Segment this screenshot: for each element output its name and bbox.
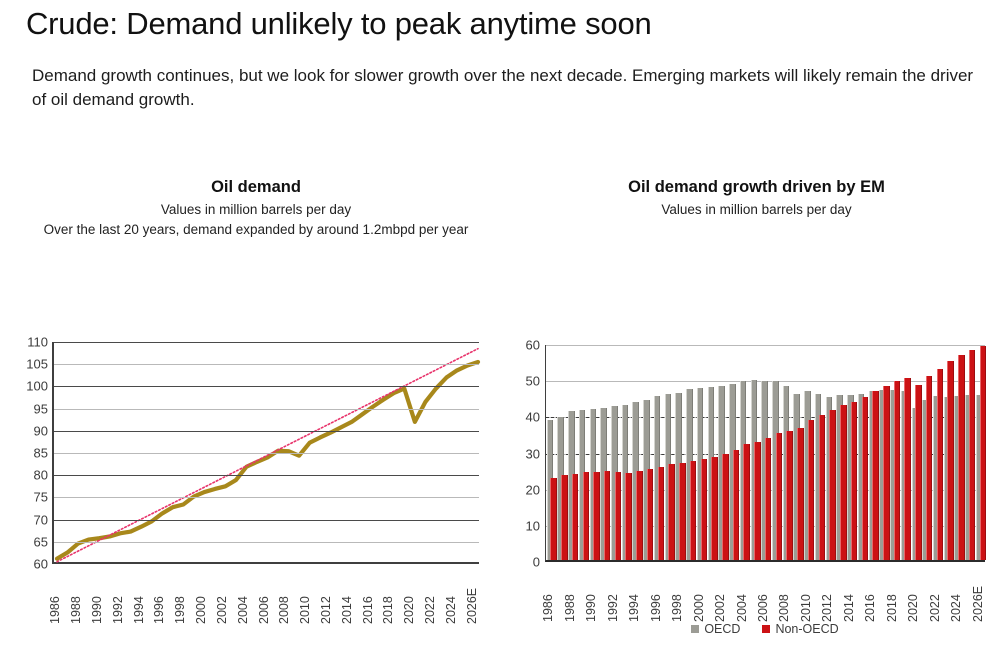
right-chart-y-axis: 0102030405060 xyxy=(508,345,540,562)
gridline xyxy=(54,364,479,365)
x-axis-tick: 2004 xyxy=(735,594,749,622)
bar-group[interactable] xyxy=(825,345,836,560)
bar-group[interactable] xyxy=(975,345,986,560)
bar-group[interactable] xyxy=(675,345,686,560)
x-axis-tick: 2006 xyxy=(257,596,271,624)
bar-group[interactable] xyxy=(610,345,621,560)
y-axis-tick: 80 xyxy=(34,468,48,483)
x-axis-tick: 2008 xyxy=(777,594,791,622)
x-axis-tick: 2002 xyxy=(713,594,727,622)
x-axis-tick: 1992 xyxy=(111,596,125,624)
x-axis-tick: 2014 xyxy=(340,596,354,624)
bar-group[interactable] xyxy=(761,345,772,560)
y-axis-tick: 85 xyxy=(34,446,48,461)
bar-group[interactable] xyxy=(664,345,675,560)
bar-group[interactable] xyxy=(578,345,589,560)
y-axis-tick: 10 xyxy=(526,518,540,533)
x-axis-tick: 1996 xyxy=(152,596,166,624)
oil-demand-path xyxy=(57,362,478,559)
y-axis-tick: 70 xyxy=(34,512,48,527)
y-axis-tick: 90 xyxy=(34,423,48,438)
left-chart-plot-area xyxy=(52,342,479,564)
bar-group[interactable] xyxy=(728,345,739,560)
x-axis-tick: 1988 xyxy=(563,594,577,622)
bar-group[interactable] xyxy=(965,345,976,560)
x-axis-tick: 1992 xyxy=(606,594,620,622)
bar-group[interactable] xyxy=(922,345,933,560)
bar-group[interactable] xyxy=(932,345,943,560)
x-axis-tick: 2014 xyxy=(842,594,856,622)
bar-group[interactable] xyxy=(868,345,879,560)
legend-swatch xyxy=(762,625,770,633)
bar-group[interactable] xyxy=(621,345,632,560)
x-axis-tick: 1998 xyxy=(173,596,187,624)
x-axis-tick: 1994 xyxy=(627,594,641,622)
gridline xyxy=(54,431,479,432)
bar-group[interactable] xyxy=(557,345,568,560)
gridline xyxy=(54,342,479,343)
y-axis-tick: 75 xyxy=(34,490,48,505)
x-axis-tick: 2024 xyxy=(444,596,458,624)
bar-group[interactable] xyxy=(836,345,847,560)
y-axis-tick: 0 xyxy=(533,555,540,570)
y-axis-tick: 110 xyxy=(27,335,48,350)
x-axis-tick: 2012 xyxy=(319,596,333,624)
bar-group[interactable] xyxy=(750,345,761,560)
x-axis-tick: 2004 xyxy=(236,596,250,624)
x-axis-tick: 1998 xyxy=(670,594,684,622)
bar-group[interactable] xyxy=(600,345,611,560)
bar-group[interactable] xyxy=(943,345,954,560)
x-axis-tick: 1990 xyxy=(584,594,598,622)
x-axis-tick: 2022 xyxy=(928,594,942,622)
legend-label: Non-OECD xyxy=(775,622,838,636)
right-chart-legend: OECDNon-OECD xyxy=(545,622,985,636)
gridline xyxy=(54,520,479,521)
bar-group[interactable] xyxy=(900,345,911,560)
x-axis-tick: 2016 xyxy=(361,596,375,624)
bar-group[interactable] xyxy=(804,345,815,560)
x-axis-tick: 1994 xyxy=(132,596,146,624)
x-axis-tick: 1988 xyxy=(69,596,83,624)
bar-non-oecd[interactable] xyxy=(980,346,987,560)
bar-group[interactable] xyxy=(686,345,697,560)
gridline xyxy=(54,497,479,498)
right-chart-title: Oil demand growth driven by EM xyxy=(512,178,1001,197)
gridline xyxy=(54,542,479,543)
bar-group[interactable] xyxy=(718,345,729,560)
y-axis-tick: 60 xyxy=(526,338,540,353)
legend-item[interactable]: OECD xyxy=(691,622,740,636)
x-axis-tick: 2024 xyxy=(949,594,963,622)
x-axis-tick: 2000 xyxy=(692,594,706,622)
bar-group[interactable] xyxy=(653,345,664,560)
bar-group[interactable] xyxy=(857,345,868,560)
bar-group[interactable] xyxy=(782,345,793,560)
y-axis-tick: 20 xyxy=(526,482,540,497)
y-axis-tick: 30 xyxy=(526,446,540,461)
gridline xyxy=(54,453,479,454)
bar-group[interactable] xyxy=(707,345,718,560)
x-axis-tick: 2016 xyxy=(863,594,877,622)
y-axis-tick: 100 xyxy=(26,379,48,394)
bar-group[interactable] xyxy=(846,345,857,560)
legend-item[interactable]: Non-OECD xyxy=(762,622,838,636)
y-axis-tick: 95 xyxy=(34,401,48,416)
legend-label: OECD xyxy=(704,622,740,636)
right-chart-subtitle: Values in million barrels per day xyxy=(512,202,1001,217)
y-axis-tick: 60 xyxy=(34,557,48,572)
x-axis-tick: 2026E xyxy=(465,588,479,624)
x-axis-tick: 2026E xyxy=(971,586,985,622)
bar-group[interactable] xyxy=(589,345,600,560)
bar-group[interactable] xyxy=(632,345,643,560)
x-axis-tick: 2022 xyxy=(423,596,437,624)
right-chart-plot-area xyxy=(545,345,985,562)
x-axis-tick: 2012 xyxy=(820,594,834,622)
bar-group[interactable] xyxy=(954,345,965,560)
x-axis-tick: 2002 xyxy=(215,596,229,624)
bar-group[interactable] xyxy=(793,345,804,560)
bar-group[interactable] xyxy=(889,345,900,560)
y-axis-tick: 50 xyxy=(526,374,540,389)
bar-group[interactable] xyxy=(814,345,825,560)
gridline xyxy=(54,409,479,410)
bar-group[interactable] xyxy=(739,345,750,560)
gridline xyxy=(54,475,479,476)
x-axis-tick: 2008 xyxy=(277,596,291,624)
left-chart-y-axis: 6065707580859095100105110 xyxy=(12,342,48,564)
x-axis-tick: 2006 xyxy=(756,594,770,622)
legend-swatch xyxy=(691,625,699,633)
x-axis-tick: 2020 xyxy=(906,594,920,622)
bar-group[interactable] xyxy=(643,345,654,560)
x-axis-tick: 2000 xyxy=(194,596,208,624)
x-axis-tick: 2018 xyxy=(885,594,899,622)
bar-group[interactable] xyxy=(567,345,578,560)
x-axis-tick: 2018 xyxy=(381,596,395,624)
y-axis-tick: 65 xyxy=(34,534,48,549)
bar-group[interactable] xyxy=(696,345,707,560)
bar-group[interactable] xyxy=(546,345,557,560)
trendline-path xyxy=(57,349,478,562)
x-axis-tick: 2010 xyxy=(298,596,312,624)
left-chart-subtitle: Values in million barrels per day xyxy=(0,202,512,217)
x-axis-tick: 1996 xyxy=(649,594,663,622)
y-axis-tick: 40 xyxy=(526,410,540,425)
bar-group[interactable] xyxy=(911,345,922,560)
right-chart-x-axis: 1986198819901992199419961998200020022004… xyxy=(545,564,985,622)
bar-group[interactable] xyxy=(879,345,890,560)
left-chart-title: Oil demand xyxy=(0,178,512,197)
x-axis-tick: 1986 xyxy=(541,594,555,622)
x-axis-tick: 1986 xyxy=(48,596,62,624)
x-axis-tick: 1990 xyxy=(90,596,104,624)
x-axis-tick: 2010 xyxy=(799,594,813,622)
y-axis-tick: 105 xyxy=(26,357,48,372)
gridline xyxy=(54,386,479,387)
left-chart-annotation: Over the last 20 years, demand expanded … xyxy=(0,222,512,237)
left-chart-x-axis: 1986198819901992199419961998200020022004… xyxy=(52,566,479,624)
bar-group[interactable] xyxy=(771,345,782,560)
x-axis-tick: 2020 xyxy=(402,596,416,624)
